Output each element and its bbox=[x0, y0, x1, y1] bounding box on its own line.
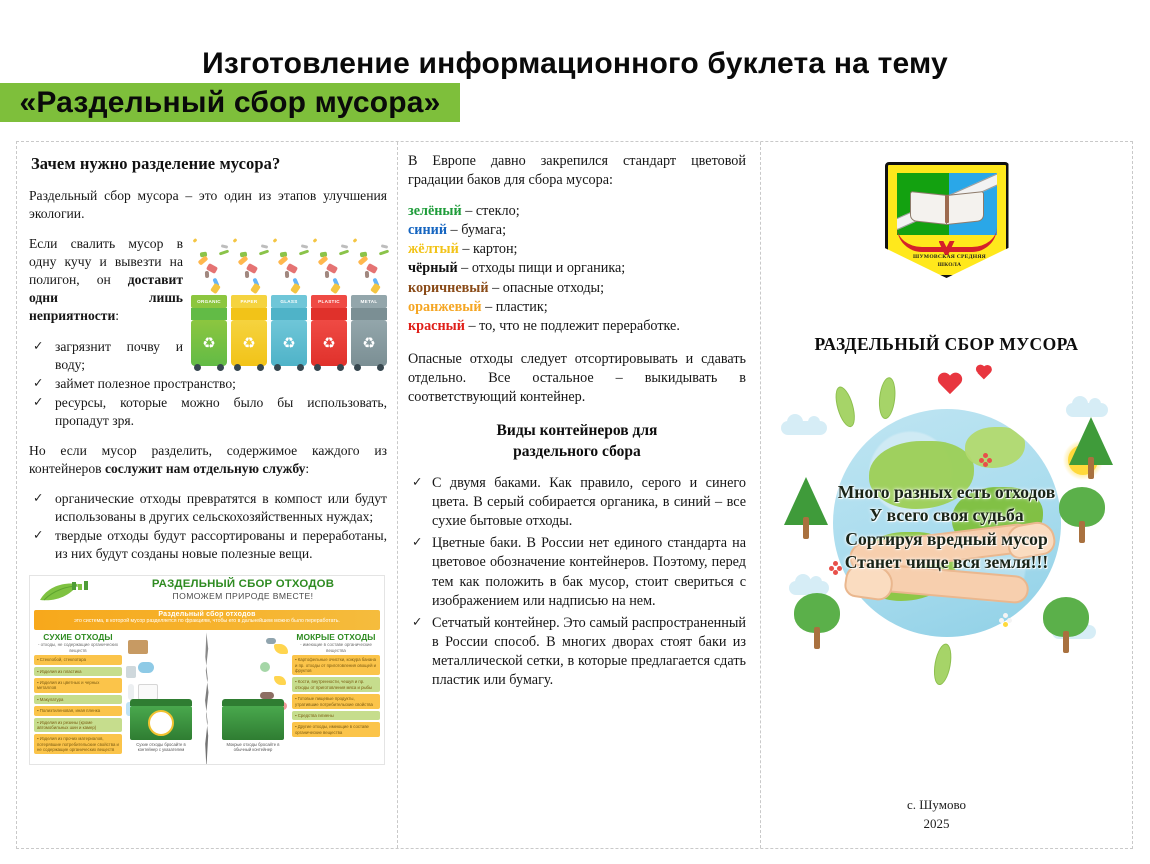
litter-cardboard bbox=[128, 640, 148, 654]
left-benefits-list: органические отходы превратятся в компос… bbox=[29, 490, 387, 563]
infographic-item: ▪ Готовые пищевые продукты, утратившие п… bbox=[292, 694, 380, 709]
infographic-item: ▪ Изделия из пластика bbox=[34, 667, 122, 676]
container-color-legend: зелёный – стекло;синий – бумага;жёлтый –… bbox=[408, 202, 746, 336]
book-page-right bbox=[946, 191, 984, 225]
wet-dumpster-caption: Мокрые отходы бросайте в обычный контейн… bbox=[222, 742, 284, 752]
color-legend-description: – пластик; bbox=[482, 299, 548, 315]
middle-heading-line1: Виды контейнеров для bbox=[497, 422, 658, 439]
trash-items-cloud bbox=[351, 237, 387, 295]
left-heading: Зачем нужно разделение мусора? bbox=[31, 154, 387, 174]
leaf-icon bbox=[931, 642, 954, 686]
bin-label: PAPER bbox=[231, 295, 267, 308]
left-consequences-list: загрязнит почву и воду;займет полезное п… bbox=[29, 338, 387, 430]
color-legend-name: зелёный bbox=[408, 203, 462, 219]
color-legend-description: – то, что не подлежит переработке. bbox=[465, 318, 680, 334]
booklet-panel-middle: В Европе давно закрепился стандарт цвето… bbox=[398, 142, 761, 848]
leaf-icon bbox=[877, 376, 897, 419]
tree-trunk bbox=[1088, 457, 1094, 479]
leaf-icon bbox=[832, 384, 859, 429]
footer-year: 2025 bbox=[761, 815, 1112, 834]
heart-icon bbox=[975, 365, 992, 381]
color-legend-name: коричневый bbox=[408, 280, 489, 296]
litter-canister bbox=[126, 666, 136, 678]
page-title: Изготовление информационного буклета на … bbox=[0, 44, 1150, 122]
booklet-footer: с. Шумово 2025 bbox=[761, 796, 1112, 834]
infographic-center-art: Сухие отходы бросайте в контейнер с указ… bbox=[124, 632, 290, 765]
tree-icon bbox=[789, 591, 845, 649]
color-legend-description: – отходы пищи и органика; bbox=[458, 260, 626, 276]
middle-heading: Виды контейнеров для раздельного сбора bbox=[408, 421, 746, 462]
bin-neck bbox=[191, 308, 227, 320]
infographic-item: ▪ Другие отходы, имеющие в составе орган… bbox=[292, 722, 380, 737]
infographic-item: ▪ Картофельные очистки, кожура банана и … bbox=[292, 655, 380, 675]
list-item: С двумя баками. Как правило, серого и си… bbox=[408, 474, 746, 531]
litter-peel-2 bbox=[274, 676, 286, 685]
booklet-panel-right: ШУМОВСКАЯ СРЕДНЯЯ ШКОЛА РАЗДЕЛЬНЫЙ СБОР … bbox=[761, 142, 1132, 848]
earth-illustration: Много разных есть отходовУ всего своя су… bbox=[771, 363, 1122, 693]
infographic-columns: СУХИЕ ОТХОДЫ - отходы, не содержащие орг… bbox=[30, 630, 384, 765]
bin-label: ORGANIC bbox=[191, 295, 227, 308]
litter-paper bbox=[138, 684, 158, 700]
crack-divider bbox=[204, 632, 210, 765]
poem-line: У всего своя судьба bbox=[771, 504, 1122, 527]
middle-dangerous-waste-paragraph: Опасные отходы следует отсортировывать и… bbox=[408, 350, 746, 407]
litter-bag bbox=[138, 662, 154, 673]
dumpster-body bbox=[222, 706, 284, 740]
litter-bottle bbox=[128, 684, 134, 700]
trash-items-cloud bbox=[231, 237, 267, 295]
infographic-banner-text: это система, в которой мусор разделяется… bbox=[34, 618, 380, 624]
infographic-banner: Раздельный сбор отходов это система, в к… bbox=[34, 610, 380, 630]
infographic-subtitle: ПОМОЖЕМ ПРИРОДЕ ВМЕСТЕ! bbox=[102, 591, 384, 601]
color-legend-description: – картон; bbox=[459, 241, 518, 257]
color-legend-name: жёлтый bbox=[408, 241, 459, 257]
school-emblem-wrapper: ШУМОВСКАЯ СРЕДНЯЯ ШКОЛА bbox=[771, 162, 1122, 288]
dry-dumpster-caption: Сухие отходы бросайте в контейнер с указ… bbox=[130, 742, 192, 752]
wet-waste-subtitle: - имеющие в составе органические веществ… bbox=[292, 642, 380, 653]
open-book-icon bbox=[910, 193, 984, 223]
color-legend-name: красный bbox=[408, 318, 465, 334]
poem-line: Много разных есть отходов bbox=[771, 481, 1122, 504]
page-title-line2: «Раздельный сбор мусора» bbox=[0, 83, 460, 122]
dumpster-lid bbox=[222, 699, 284, 706]
bin-neck bbox=[351, 308, 387, 320]
trash-items-cloud bbox=[271, 237, 307, 295]
booklet-cover-title: РАЗДЕЛЬНЫЙ СБОР МУСОРА bbox=[771, 334, 1122, 355]
color-legend-description: – опасные отходы; bbox=[489, 280, 604, 296]
wet-waste-dumpster: Мокрые отходы бросайте в обычный контейн… bbox=[222, 699, 284, 752]
fir-tree-icon bbox=[1068, 409, 1114, 479]
shield-shape: ШУМОВСКАЯ СРЕДНЯЯ ШКОЛА bbox=[885, 162, 1009, 278]
infographic-dry-column: СУХИЕ ОТХОДЫ - отходы, не содержащие орг… bbox=[34, 632, 122, 765]
infographic-item: ▪ Стеклобой, стеклотара bbox=[34, 655, 122, 664]
flower-icon bbox=[979, 453, 993, 467]
infographic-item: ▪ Изделия из цветных и черных металлов bbox=[34, 678, 122, 693]
list-item: ресурсы, которые можно было бы использов… bbox=[29, 394, 387, 430]
color-legend-row: красный – то, что не подлежит переработк… bbox=[408, 317, 746, 336]
dumpster-sticker bbox=[148, 710, 174, 736]
emblem-text-line2: ШКОЛА bbox=[938, 262, 962, 268]
emblem-text-line1: ШУМОВСКАЯ СРЕДНЯЯ bbox=[913, 254, 986, 260]
color-legend-row: жёлтый – картон; bbox=[408, 240, 746, 259]
poem-line: Станет чище вся земля!!! bbox=[771, 551, 1122, 574]
book-page-left bbox=[910, 191, 948, 225]
infographic-item: ▪ Изделия из резины (кроме автомобильных… bbox=[34, 718, 122, 733]
list-item: Цветные баки. В России нет единого станд… bbox=[408, 534, 746, 610]
bin-neck bbox=[311, 308, 347, 320]
tree-trunk bbox=[814, 627, 820, 649]
container-types-list: С двумя баками. Как правило, серого и си… bbox=[408, 474, 746, 690]
color-legend-row: оранжевый – пластик; bbox=[408, 298, 746, 317]
poem-text: Много разных есть отходовУ всего своя су… bbox=[771, 481, 1122, 575]
wet-waste-title: МОКРЫЕ ОТХОДЫ bbox=[292, 632, 380, 642]
list-item: органические отходы превратятся в компос… bbox=[29, 490, 387, 526]
footer-place-name: с. Шумово bbox=[761, 796, 1112, 815]
color-legend-row: коричневый – опасные отходы; bbox=[408, 279, 746, 298]
infographic-wet-column: МОКРЫЕ ОТХОДЫ - имеющие в составе органи… bbox=[292, 632, 380, 765]
dry-waste-title: СУХИЕ ОТХОДЫ bbox=[34, 632, 122, 642]
middle-intro-paragraph: В Европе давно закрепился стандарт цвето… bbox=[408, 152, 746, 190]
left-paragraph-3: Но если мусор разделить, содержимое кажд… bbox=[29, 442, 387, 478]
left-intro-paragraph: Раздельный сбор мусора – это один из эта… bbox=[29, 187, 387, 223]
litter-greens bbox=[260, 662, 270, 672]
book-spine bbox=[945, 195, 949, 223]
booklet-panel-left: Зачем нужно разделение мусора? Раздельны… bbox=[17, 142, 398, 848]
dumpster-lid bbox=[130, 699, 192, 706]
color-legend-name: чёрный bbox=[408, 260, 458, 276]
dumpster-body bbox=[130, 706, 192, 740]
color-legend-row: зелёный – стекло; bbox=[408, 202, 746, 221]
poem-line: Сортируя вредный мусор bbox=[771, 528, 1122, 551]
list-item: Сетчатый контейнер. Это самый распростра… bbox=[408, 614, 746, 690]
list-item: твердые отходы будут рассортированы и пе… bbox=[29, 527, 387, 563]
trash-items-cloud bbox=[191, 237, 227, 295]
dry-waste-dumpster: Сухие отходы бросайте в контейнер с указ… bbox=[130, 699, 192, 752]
cloud-icon bbox=[781, 421, 827, 435]
page-title-line1: Изготовление информационного буклета на … bbox=[202, 47, 948, 80]
emblem-text: ШУМОВСКАЯ СРЕДНЯЯ ШКОЛА bbox=[888, 253, 1012, 270]
infographic-item: ▪ Макулатура bbox=[34, 695, 122, 704]
bin-label: METAL bbox=[351, 295, 387, 308]
dry-waste-subtitle: - отходы, не содержащие органических вещ… bbox=[34, 642, 122, 653]
litter-peel bbox=[274, 644, 288, 654]
infographic-item: ▪ Полиэтиленовая, иная пленка bbox=[34, 706, 122, 715]
color-legend-name: оранжевый bbox=[408, 299, 482, 315]
left-paragraph-3-bold: сослужит нам отдельную службу bbox=[105, 461, 305, 476]
color-legend-name: синий bbox=[408, 222, 447, 238]
landmass bbox=[965, 427, 1024, 468]
heart-icon bbox=[937, 373, 963, 397]
middle-heading-line2: раздельного сбора bbox=[513, 443, 641, 460]
infographic-item: ▪ Изделия из прочих материалов, потерявш… bbox=[34, 734, 122, 754]
list-item: загрязнит почву и воду; bbox=[29, 338, 387, 374]
color-legend-row: синий – бумага; bbox=[408, 221, 746, 240]
trash-items-cloud bbox=[311, 237, 347, 295]
school-emblem: ШУМОВСКАЯ СРЕДНЯЯ ШКОЛА bbox=[885, 162, 1009, 288]
color-legend-description: – стекло; bbox=[462, 203, 520, 219]
infographic-header: РАЗДЕЛЬНЫЙ СБОР ОТХОДОВ ПОМОЖЕМ ПРИРОДЕ … bbox=[30, 578, 384, 608]
left-paragraph-2-b: : bbox=[115, 308, 119, 323]
infographic-item: ▪ Кости, внутренности, чешуя и пр. отход… bbox=[292, 677, 380, 692]
booklet-frame: Зачем нужно разделение мусора? Раздельны… bbox=[16, 141, 1133, 849]
bin-neck bbox=[231, 308, 267, 320]
bin-label: PLASTIC bbox=[311, 295, 347, 308]
leaf-icon bbox=[38, 580, 94, 604]
left-paragraph-3-b: : bbox=[305, 461, 309, 476]
color-legend-description: – бумага; bbox=[447, 222, 506, 238]
litter-fish bbox=[260, 692, 274, 699]
infographic-title: РАЗДЕЛЬНЫЙ СБОР ОТХОДОВ bbox=[102, 578, 384, 590]
color-legend-row: чёрный – отходы пищи и органика; bbox=[408, 259, 746, 278]
bin-neck bbox=[271, 308, 307, 320]
waste-sorting-infographic: РАЗДЕЛЬНЫЙ СБОР ОТХОДОВ ПОМОЖЕМ ПРИРОДЕ … bbox=[29, 575, 385, 765]
tree-trunk bbox=[1063, 631, 1069, 653]
list-item: займет полезное пространство; bbox=[29, 375, 387, 393]
bin-label: GLASS bbox=[271, 295, 307, 308]
infographic-item: ▪ Средства гигиены bbox=[292, 711, 380, 720]
